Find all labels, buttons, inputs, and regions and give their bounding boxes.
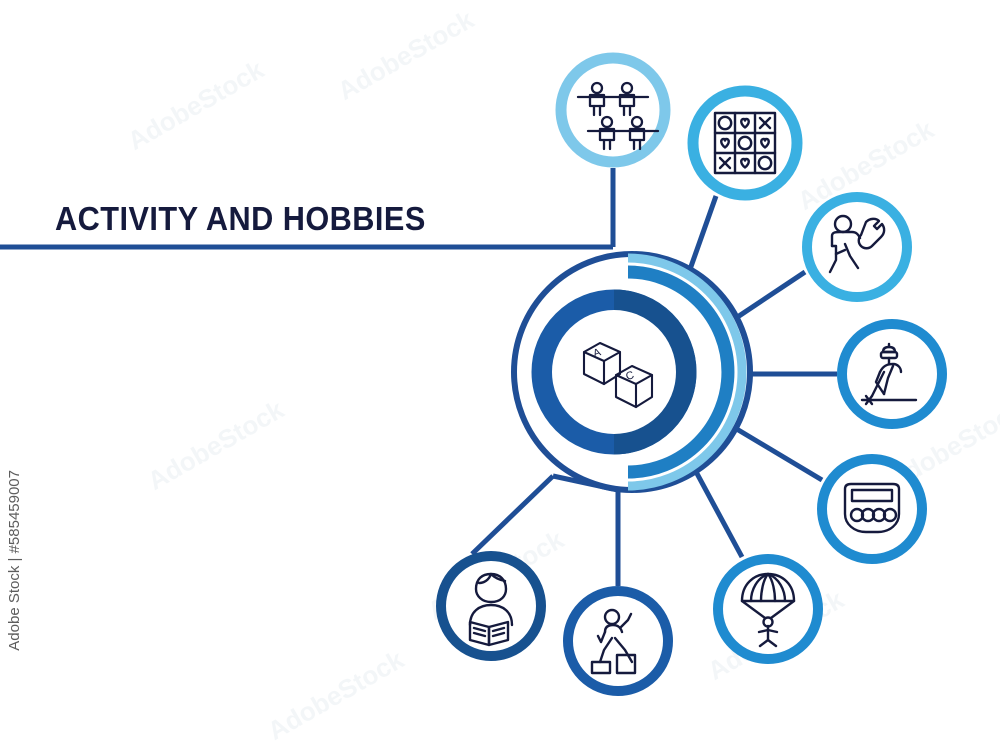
node-foosball[interactable]: [561, 58, 665, 162]
hub-face: [552, 310, 676, 434]
infographic-canvas: AdobeStock AdobeStock AdobeStock AdobeSt…: [0, 0, 1000, 750]
node-reading[interactable]: [441, 556, 541, 656]
node-skiing-ring[interactable]: [842, 324, 942, 424]
connector-parachuting: [694, 468, 742, 557]
stock-watermark: Adobe Stock | #585459007: [6, 470, 23, 651]
node-handheld-console-ring[interactable]: [822, 459, 922, 559]
connector-reading: [472, 476, 553, 554]
node-handyman[interactable]: [807, 197, 907, 297]
page-title: ACTIVITY AND HOBBIES: [55, 200, 426, 238]
node-handyman-ring[interactable]: [807, 197, 907, 297]
node-skiing[interactable]: [842, 324, 942, 424]
node-step-climbing[interactable]: [568, 591, 668, 691]
node-foosball-ring[interactable]: [561, 58, 665, 162]
diagram-svg: A C: [0, 0, 1000, 750]
connector-handyman: [736, 272, 805, 318]
node-handheld-console[interactable]: [822, 459, 922, 559]
connector-tic-tac-toe: [688, 196, 716, 275]
connector-handheld-console: [735, 428, 822, 480]
node-tic-tac-toe[interactable]: [693, 91, 797, 195]
node-tic-tac-toe-ring[interactable]: [693, 91, 797, 195]
node-parachuting[interactable]: [718, 559, 818, 659]
